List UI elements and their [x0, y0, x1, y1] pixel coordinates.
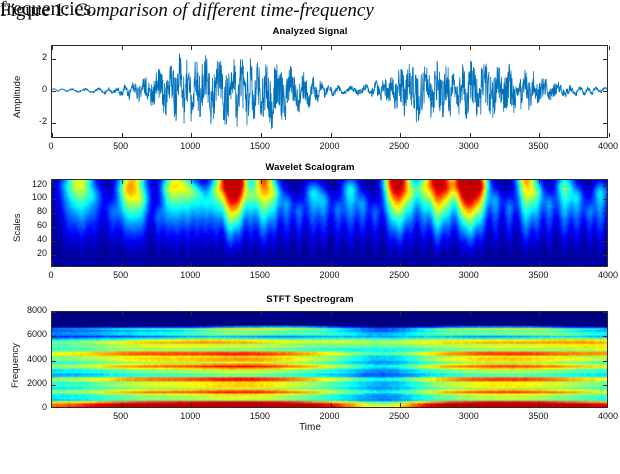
x-tick [52, 262, 53, 266]
x-tick [191, 312, 192, 316]
x-tick [539, 46, 540, 50]
x-tick [191, 46, 192, 50]
y-tick [52, 312, 56, 313]
x-tick [331, 180, 332, 184]
x-tick [191, 262, 192, 266]
x-tick [261, 262, 262, 266]
y-tick-label: 40 [7, 234, 47, 244]
y-tick-label: 120 [7, 179, 47, 189]
x-tick [470, 180, 471, 184]
x-tick [609, 46, 610, 50]
y-tick [603, 186, 607, 187]
spectrogram-heatmap [52, 312, 607, 407]
x-tick [470, 46, 471, 50]
x-tick-label: 2500 [373, 270, 425, 280]
x-tick-label: 1000 [164, 141, 216, 151]
plot-area-stft-spectrogram [51, 311, 608, 408]
figure-page: frequencies. Analyzed Signal Amplitude 0… [0, 0, 620, 474]
x-tick [52, 180, 53, 184]
x-tick [331, 312, 332, 316]
x-tick [191, 403, 192, 407]
x-tick [400, 46, 401, 50]
x-tick-label: 1500 [234, 270, 286, 280]
x-tick [122, 403, 123, 407]
x-tick [400, 133, 401, 137]
y-tick [603, 199, 607, 200]
x-tick [400, 180, 401, 184]
x-tick-label: 0 [25, 141, 77, 151]
x-tick [261, 133, 262, 137]
y-tick-label: 0 [7, 402, 47, 412]
panel-title-stft-spectrogram: STFT Spectrogram [0, 294, 620, 305]
y-tick [52, 385, 56, 386]
y-tick-label: 8000 [7, 305, 47, 315]
x-tick [609, 133, 610, 137]
panel-title-analyzed-signal: Analyzed Signal [0, 26, 620, 37]
x-tick-label: 3500 [512, 141, 564, 151]
y-tick [52, 59, 56, 60]
x-tick [52, 133, 53, 137]
x-tick-label: 0 [25, 270, 77, 280]
x-tick-label: 1000 [164, 411, 216, 421]
x-tick [470, 312, 471, 316]
panel-analyzed-signal: Analyzed Signal Amplitude 05001000150020… [0, 26, 620, 162]
x-tick [539, 403, 540, 407]
x-tick [261, 312, 262, 316]
x-tick-label: 2500 [373, 141, 425, 151]
figure-three-panel: Analyzed Signal Amplitude 05001000150020… [0, 26, 620, 430]
x-tick [261, 46, 262, 50]
y-tick-label: 6000 [7, 329, 47, 339]
y-tick [603, 255, 607, 256]
x-tick-label: 4000 [582, 270, 620, 280]
y-tick-label: 4000 [7, 354, 47, 364]
y-tick-label: 80 [7, 206, 47, 216]
y-tick [603, 385, 607, 386]
x-tick [52, 46, 53, 50]
x-tick-label: 3000 [443, 141, 495, 151]
x-tick-label: 2000 [304, 270, 356, 280]
plot-area-wavelet-scalogram [51, 179, 608, 267]
x-tick [331, 403, 332, 407]
x-tick-label: 2000 [304, 411, 356, 421]
x-tick [261, 180, 262, 184]
x-tick-label: 3500 [512, 411, 564, 421]
y-tick [603, 336, 607, 337]
x-tick [400, 262, 401, 266]
y-tick-label: 0 [7, 84, 47, 94]
x-tick [261, 403, 262, 407]
y-tick [52, 361, 56, 362]
x-tick [122, 180, 123, 184]
y-tick [603, 91, 607, 92]
panel-stft-spectrogram: STFT Spectrogram Frequency Time 50010001… [0, 294, 620, 430]
y-tick [603, 312, 607, 313]
panel-title-wavelet-scalogram: Wavelet Scalogram [0, 162, 620, 173]
x-tick [470, 133, 471, 137]
y-tick [52, 241, 56, 242]
y-tick-label: 20 [7, 248, 47, 258]
figure-caption-text: Comparison of different time-frequency [69, 0, 374, 21]
x-tick [122, 133, 123, 137]
x-axis-label-time: Time [0, 422, 620, 433]
scalogram-heatmap [52, 180, 607, 266]
x-tick [122, 46, 123, 50]
x-tick-label: 4000 [582, 411, 620, 421]
y-tick-label: -2 [7, 116, 47, 126]
y-tick [603, 213, 607, 214]
panel-wavelet-scalogram: Wavelet Scalogram Scales 050010001500200… [0, 162, 620, 294]
x-tick [400, 312, 401, 316]
y-tick [52, 123, 56, 124]
y-axis-label-amplitude: Amplitude [12, 75, 23, 117]
x-tick [331, 46, 332, 50]
x-tick-label: 4000 [582, 141, 620, 151]
x-tick [191, 133, 192, 137]
y-tick [603, 123, 607, 124]
y-tick [603, 59, 607, 60]
x-tick [191, 180, 192, 184]
x-tick-label: 500 [95, 141, 147, 151]
y-tick [603, 241, 607, 242]
x-tick [539, 262, 540, 266]
x-tick [470, 262, 471, 266]
x-tick-label: 2000 [304, 141, 356, 151]
x-tick [122, 262, 123, 266]
x-tick-label: 1000 [164, 270, 216, 280]
body-text-above: frequencies. [0, 0, 96, 21]
x-tick [400, 403, 401, 407]
y-tick [52, 91, 56, 92]
y-tick [52, 199, 56, 200]
x-tick [470, 403, 471, 407]
x-tick-label: 1500 [234, 411, 286, 421]
y-tick-label: 100 [7, 192, 47, 202]
y-tick [52, 255, 56, 256]
x-tick-label: 3000 [443, 411, 495, 421]
x-tick-label: 1500 [234, 141, 286, 151]
x-tick-label: 3000 [443, 270, 495, 280]
y-tick [52, 336, 56, 337]
x-tick [539, 312, 540, 316]
y-tick [52, 227, 56, 228]
y-tick-label: 60 [7, 220, 47, 230]
x-tick-label: 3500 [512, 270, 564, 280]
y-tick-label: 2000 [7, 378, 47, 388]
x-tick [122, 312, 123, 316]
y-tick [52, 186, 56, 187]
signal-line [52, 53, 607, 129]
x-tick-label: 2500 [373, 411, 425, 421]
x-tick [331, 262, 332, 266]
y-tick [603, 361, 607, 362]
x-tick-label: 500 [95, 270, 147, 280]
y-tick [603, 227, 607, 228]
x-tick-label: 500 [95, 411, 147, 421]
y-tick-label: 2 [7, 52, 47, 62]
x-tick [539, 133, 540, 137]
y-tick [52, 213, 56, 214]
x-tick [539, 180, 540, 184]
signal-trace [52, 46, 607, 137]
plot-area-analyzed-signal [51, 45, 608, 138]
x-tick [331, 133, 332, 137]
